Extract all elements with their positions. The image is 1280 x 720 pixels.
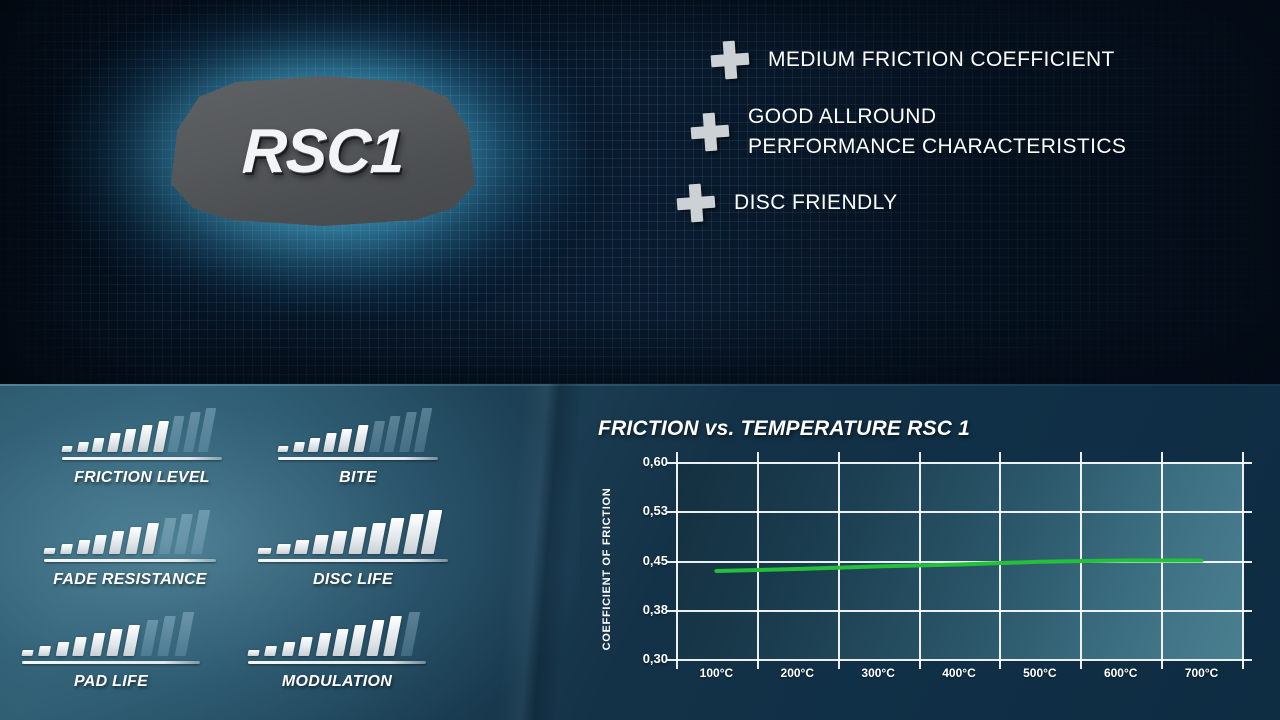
rating-underline — [258, 559, 448, 562]
rating-bar-filled — [330, 531, 347, 554]
x-tick-label: 500°C — [1023, 666, 1057, 680]
x-tick-label: 700°C — [1185, 666, 1219, 680]
y-axis-title: COEFFICIENT OF FRICTION — [601, 384, 621, 469]
rating-pad-life: PAD LIFE — [22, 610, 200, 691]
product-name-logo: RSC1 — [165, 76, 480, 226]
rating-bar-empty — [384, 416, 401, 452]
feature-list: MEDIUM FRICTION COEFFICIENT GOOD ALLROUN… — [676, 40, 1236, 237]
rating-label: FRICTION LEVEL — [62, 469, 222, 487]
rating-bar-filled — [332, 629, 349, 656]
feature-label: DISC FRIENDLY — [734, 188, 898, 218]
rating-bar-track — [62, 406, 222, 452]
rating-bar-empty — [198, 408, 216, 452]
rating-bar-filled — [123, 625, 140, 656]
rating-bar-filled — [308, 438, 320, 452]
rating-bar-track — [22, 610, 200, 656]
rating-bar-filled — [72, 637, 87, 656]
rating-bar-filled — [366, 620, 384, 656]
rating-bar-filled — [43, 548, 55, 554]
rating-bar-filled — [125, 527, 141, 554]
feature-label-line1: GOOD ALLROUND — [748, 105, 936, 128]
rating-underline — [278, 457, 438, 460]
plot-area — [676, 462, 1242, 659]
rating-bar-track — [44, 508, 216, 554]
rating-bar-filled — [403, 514, 423, 554]
rating-bar-empty — [183, 412, 200, 452]
rating-fade-resistance: FADE RESISTANCE — [44, 508, 216, 589]
rating-bar-empty — [168, 416, 185, 452]
rating-bar-filled — [323, 433, 336, 452]
rating-bar-filled — [55, 642, 69, 656]
brake-pad-graphic: RSC1 — [168, 76, 478, 226]
rating-bar-filled — [385, 518, 405, 554]
x-tick-label: 400°C — [942, 666, 976, 680]
rating-label: MODULATION — [248, 673, 426, 691]
rating-bar-empty — [369, 421, 385, 452]
rating-bar-filled — [137, 425, 152, 452]
rating-bar-filled — [294, 540, 309, 554]
rating-bar-filled — [257, 548, 271, 554]
y-tick-label: 0,45 — [643, 553, 668, 568]
rating-bar-filled — [293, 442, 305, 452]
y-tick-label: 0,30 — [643, 651, 668, 666]
rating-bar-empty — [414, 408, 432, 452]
rating-bar-filled — [93, 535, 107, 554]
rating-bar-filled — [76, 540, 90, 554]
rating-underline — [248, 661, 426, 664]
rating-bar-filled — [315, 633, 331, 656]
rating-disc-life: DISC LIFE — [258, 508, 448, 589]
rating-bite: BITE — [278, 406, 438, 487]
rating-label: FADE RESISTANCE — [44, 571, 216, 589]
rating-bars-group: FRICTION LEVELBITEFADE RESISTANCEDISC LI… — [0, 384, 520, 720]
hero-panel: RSC1 MEDIUM FRICTION COEFFICIENT GOOD AL… — [0, 0, 1280, 384]
rating-bar-empty — [174, 612, 194, 656]
rating-bar-filled — [106, 629, 123, 656]
plus-icon — [689, 111, 732, 154]
rating-bar-filled — [348, 527, 366, 554]
rating-bar-filled — [264, 646, 277, 656]
rating-label: BITE — [278, 469, 438, 487]
feature-item: GOOD ALLROUND PERFORMANCE CHARACTERISTIC… — [690, 102, 1236, 163]
rating-bar-filled — [312, 535, 328, 554]
rating-bar-filled — [21, 650, 34, 656]
rating-friction-level: FRICTION LEVEL — [62, 406, 222, 487]
x-tick-label: 300°C — [861, 666, 895, 680]
rating-bar-empty — [157, 616, 176, 656]
feature-label-wrap: GOOD ALLROUND PERFORMANCE CHARACTERISTIC… — [748, 102, 1126, 163]
rating-bar-filled — [421, 510, 442, 554]
rating-label: PAD LIFE — [22, 673, 200, 691]
product-info-slide: RSC1 MEDIUM FRICTION COEFFICIENT GOOD AL… — [0, 0, 1280, 720]
rating-bar-filled — [89, 633, 105, 656]
feature-item: DISC FRIENDLY — [676, 183, 1236, 223]
rating-bar-filled — [383, 616, 402, 656]
rating-underline — [22, 661, 200, 664]
rating-bar-filled — [122, 429, 136, 452]
series-line-rsc1 — [716, 561, 1201, 572]
rating-bar-filled — [338, 429, 352, 452]
x-tick-label: 100°C — [700, 666, 734, 680]
rating-bar-filled — [367, 523, 386, 554]
rating-bar-track — [248, 610, 426, 656]
specs-panel: FRICTION LEVELBITEFADE RESISTANCEDISC LI… — [0, 384, 1280, 720]
rating-bar-filled — [298, 637, 313, 656]
feature-label-line2: PERFORMANCE CHARACTERISTICS — [748, 135, 1126, 158]
rating-modulation: MODULATION — [248, 610, 426, 691]
rating-underline — [62, 457, 222, 460]
friction-temperature-chart: FRICTION vs. TEMPERATURE RSC 1 COEFFICIE… — [560, 384, 1280, 720]
rating-bar-track — [278, 406, 438, 452]
rating-bar-filled — [107, 433, 120, 452]
rating-bar-empty — [191, 510, 210, 554]
x-tick-label: 200°C — [781, 666, 815, 680]
friction-curve — [676, 462, 1242, 659]
rating-bar-empty — [140, 620, 158, 656]
rating-bar-empty — [400, 612, 420, 656]
y-tick-label: 0,53 — [643, 503, 668, 518]
gridline-vertical — [1242, 452, 1244, 669]
rating-bar-empty — [399, 412, 416, 452]
y-axis-tick-labels: 0,600,530,450,380,30 — [620, 384, 668, 720]
rating-bar-filled — [92, 438, 104, 452]
rating-bar-track — [258, 508, 448, 554]
plus-icon — [709, 39, 752, 82]
rating-bar-filled — [277, 446, 288, 452]
y-tick-label: 0,60 — [643, 454, 668, 469]
rating-bar-filled — [109, 531, 124, 554]
rating-underline — [44, 559, 216, 562]
rating-bar-empty — [175, 514, 194, 554]
feature-item: MEDIUM FRICTION COEFFICIENT — [710, 40, 1236, 80]
rating-label: DISC LIFE — [258, 571, 448, 589]
rating-bar-empty — [158, 518, 176, 554]
rating-bar-filled — [153, 421, 169, 452]
rating-bar-filled — [38, 646, 51, 656]
rating-bar-filled — [276, 544, 291, 554]
rating-bar-filled — [353, 425, 368, 452]
rating-bar-filled — [349, 625, 366, 656]
gridline-horizontal — [666, 659, 1252, 661]
x-tick-label: 600°C — [1104, 666, 1138, 680]
rating-bar-filled — [61, 446, 72, 452]
rating-bar-filled — [60, 544, 73, 554]
rating-bar-filled — [77, 442, 89, 452]
rating-bar-filled — [281, 642, 295, 656]
rating-bar-filled — [247, 650, 260, 656]
y-tick-label: 0,38 — [643, 602, 668, 617]
feature-label: MEDIUM FRICTION COEFFICIENT — [768, 45, 1115, 75]
rating-bar-filled — [142, 523, 159, 554]
plus-icon — [675, 182, 718, 225]
